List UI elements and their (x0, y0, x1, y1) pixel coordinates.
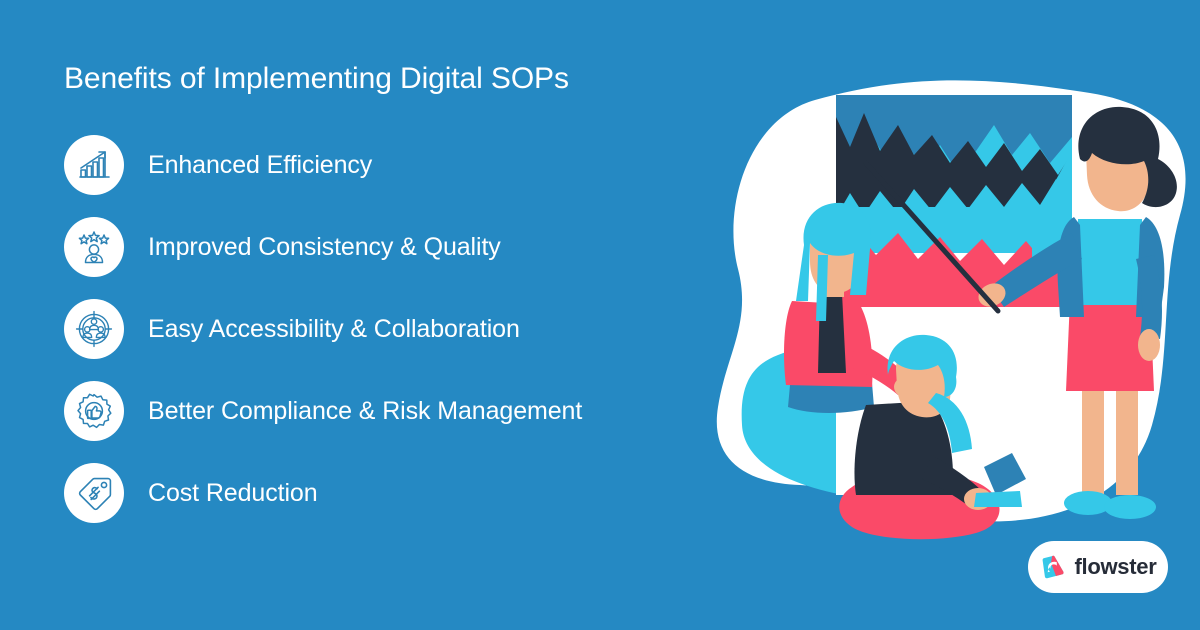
team-target-icon (64, 299, 124, 359)
benefit-label: Easy Accessibility & Collaboration (148, 315, 520, 344)
benefit-item-easy-accessibility: Easy Accessibility & Collaboration (64, 288, 764, 370)
bar-chart-growth-icon (64, 135, 124, 195)
flowster-triangle-swirl-icon (1040, 554, 1066, 580)
page-title: Benefits of Implementing Digital SOPs (64, 62, 764, 96)
benefit-item-improved-consistency: Improved Consistency & Quality (64, 206, 764, 288)
benefits-list: Enhanced Efficiency Improved Consistency… (64, 124, 764, 534)
flowster-logo[interactable]: flowster (1028, 541, 1168, 593)
benefit-item-better-compliance: Better Compliance & Risk Management (64, 370, 764, 452)
benefit-label: Cost Reduction (148, 479, 318, 508)
benefit-label: Improved Consistency & Quality (148, 233, 501, 262)
benefit-label: Better Compliance & Risk Management (148, 397, 582, 426)
infographic-canvas: Benefits of Implementing Digital SOPs (0, 0, 1200, 630)
gear-thumbs-up-icon (64, 381, 124, 441)
benefits-panel: Benefits of Implementing Digital SOPs (64, 62, 764, 534)
benefit-item-enhanced-efficiency: Enhanced Efficiency (64, 124, 764, 206)
benefit-label: Enhanced Efficiency (148, 151, 372, 180)
benefit-item-cost-reduction: Cost Reduction (64, 452, 764, 534)
flowster-wordmark: flowster (1075, 554, 1157, 580)
person-stars-rating-icon (64, 217, 124, 277)
price-tag-dollar-icon (64, 463, 124, 523)
